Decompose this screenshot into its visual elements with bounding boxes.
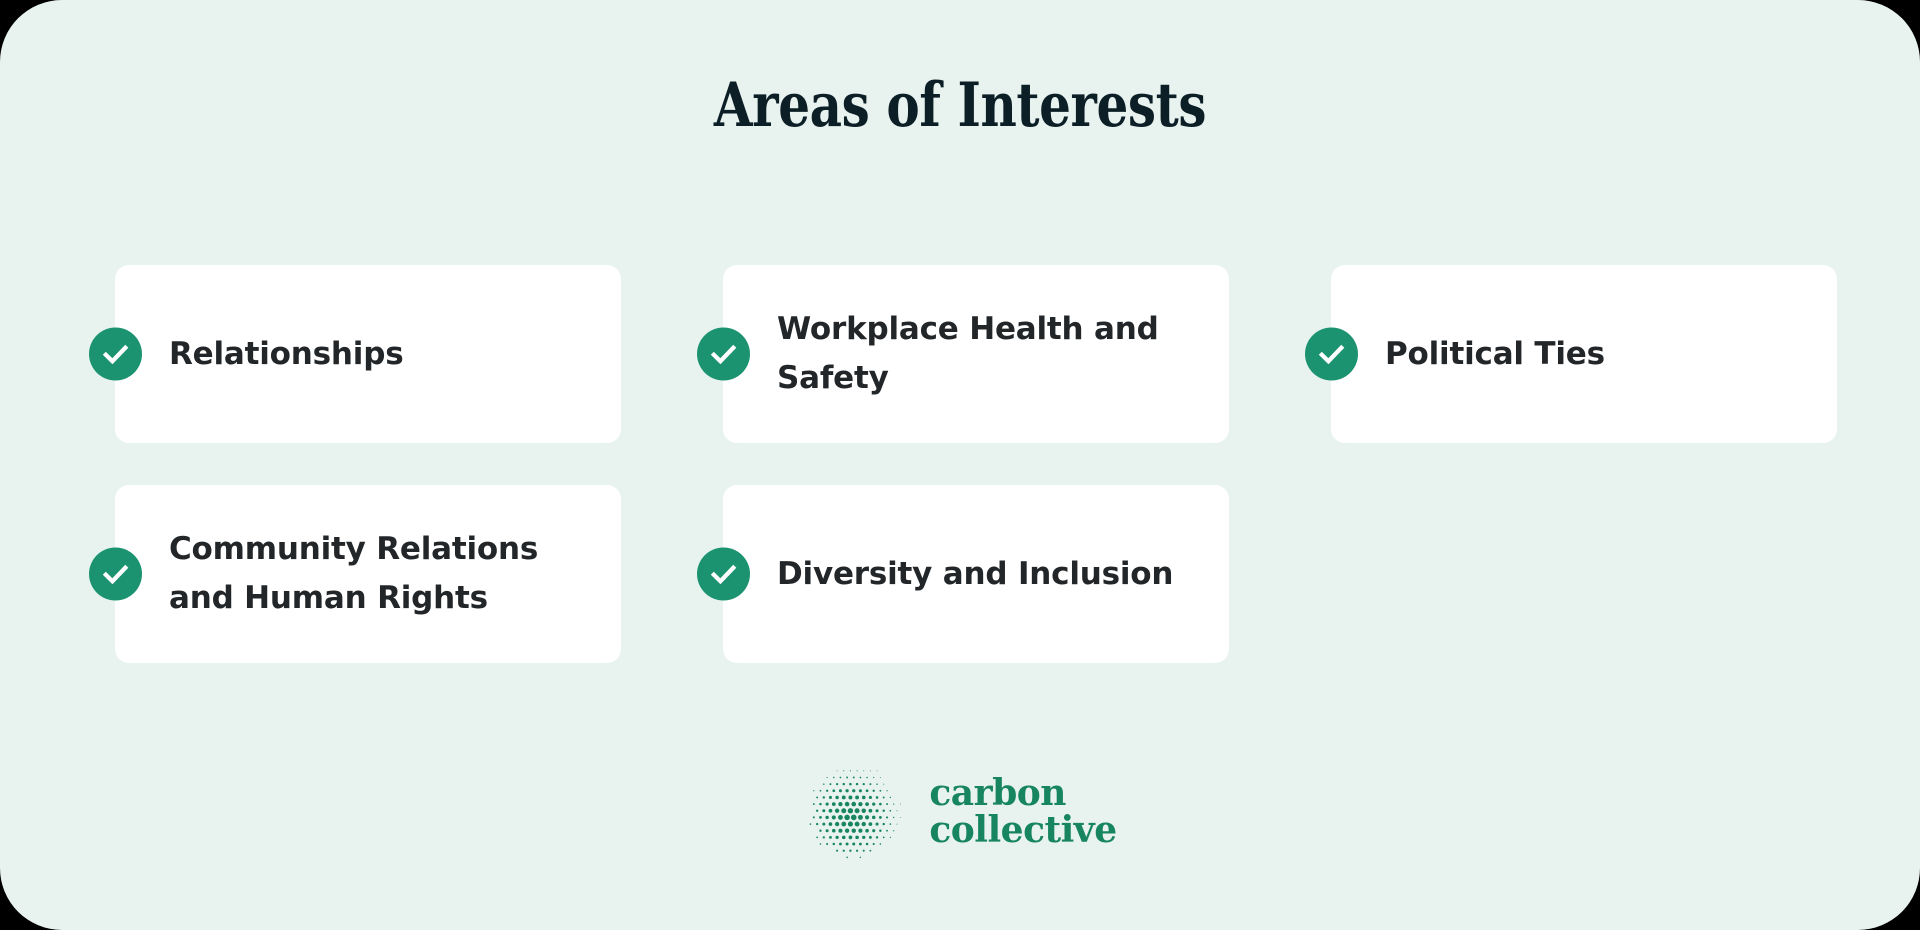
- interest-card[interactable]: Workplace Health and Safety: [723, 265, 1229, 443]
- interest-card-label: Political Ties: [1385, 330, 1605, 379]
- page-panel: Areas of Interests Relationships Workpla: [0, 0, 1920, 930]
- card-row: Community Relations and Human Rights Div…: [115, 485, 1837, 663]
- interest-card-label: Workplace Health and Safety: [777, 305, 1197, 403]
- check-circle-icon: [1305, 328, 1358, 381]
- check-circle-icon: [89, 328, 142, 381]
- brand-logo: carbon collective: [0, 760, 1920, 864]
- interest-card-label: Community Relations and Human Rights: [169, 525, 589, 623]
- brand-wordmark: carbon collective: [929, 775, 1116, 850]
- brand-wordmark-line-2: collective: [929, 812, 1116, 849]
- interest-card-label: Diversity and Inclusion: [777, 550, 1173, 599]
- interest-card[interactable]: Community Relations and Human Rights: [115, 485, 621, 663]
- interest-card[interactable]: Political Ties: [1331, 265, 1837, 443]
- page-title: Areas of Interests: [173, 72, 1747, 139]
- check-circle-icon: [697, 328, 750, 381]
- interest-card[interactable]: Diversity and Inclusion: [723, 485, 1229, 663]
- carbon-collective-dot-sphere-icon: [803, 760, 907, 864]
- areas-of-interest-grid: Relationships Workplace Health and Safet…: [115, 265, 1837, 705]
- card-row: Relationships Workplace Health and Safet…: [115, 265, 1837, 443]
- interest-card[interactable]: Relationships: [115, 265, 621, 443]
- interest-card-label: Relationships: [169, 330, 403, 379]
- check-circle-icon: [89, 548, 142, 601]
- check-circle-icon: [697, 548, 750, 601]
- brand-wordmark-line-1: carbon: [929, 775, 1116, 812]
